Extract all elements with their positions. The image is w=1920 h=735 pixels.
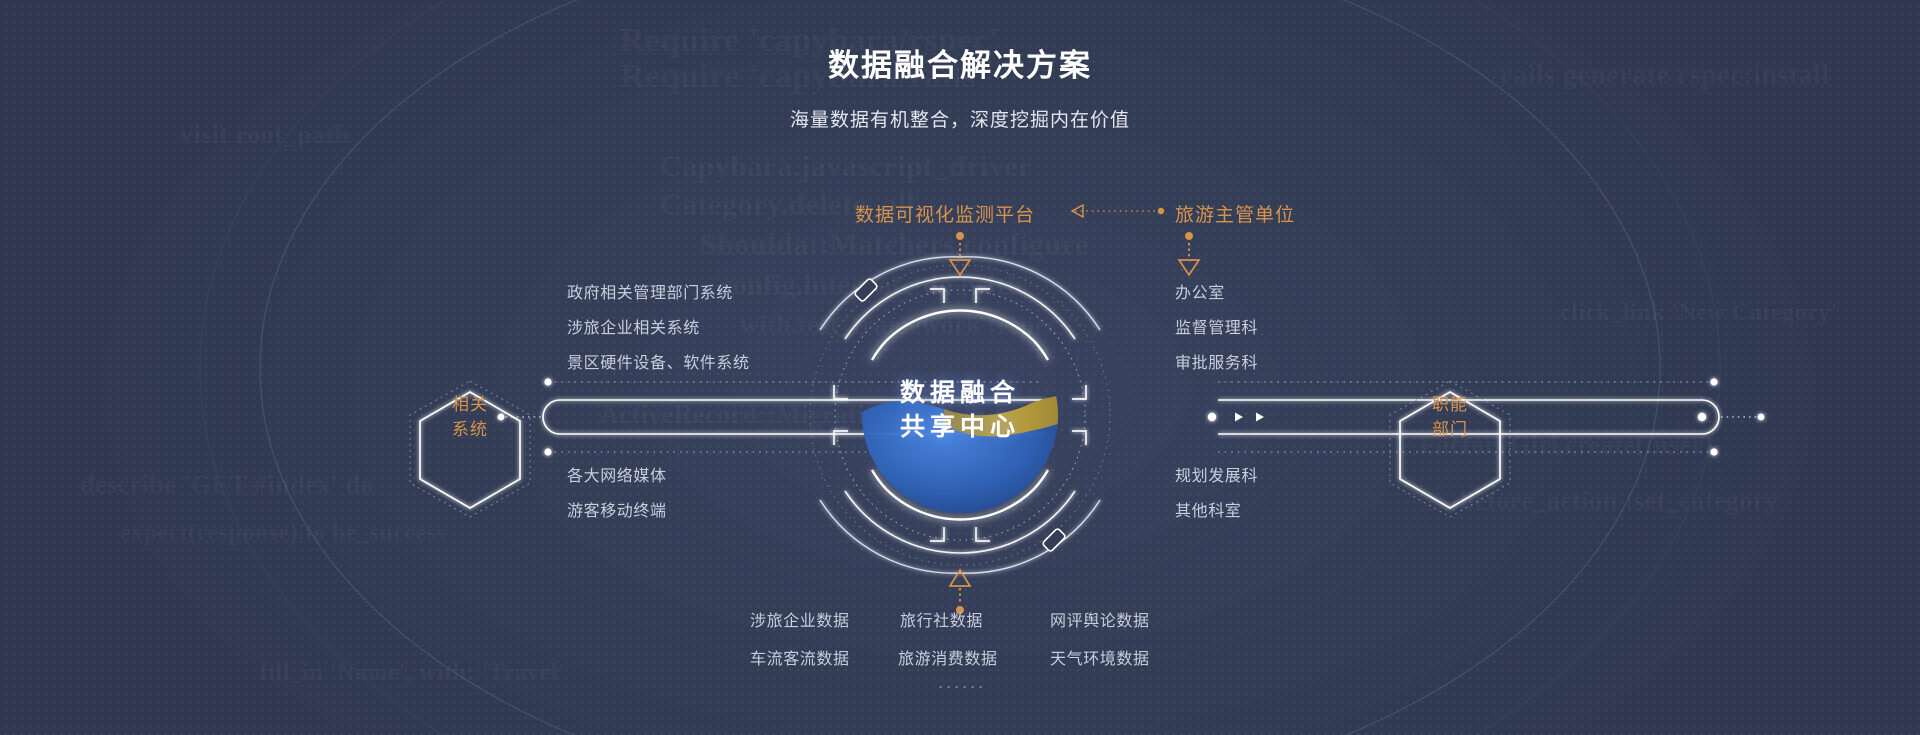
page-subtitle: 海量数据有机整合，深度挖掘内在价值 <box>0 105 1920 132</box>
left-input-0[interactable]: 政府相关管理部门系统 <box>567 279 733 303</box>
right-hexagon-label[interactable]: 职能 部门 <box>1410 392 1490 442</box>
bottom-source-r1c3[interactable]: 网评舆论数据 <box>1050 607 1150 631</box>
bottom-source-r2c3[interactable]: 天气环境数据 <box>1050 645 1150 669</box>
left-hexagon-label-line1: 相关 <box>430 392 510 417</box>
diagram-canvas: Require 'capybara/rspec'Require 'capybar… <box>0 0 1920 735</box>
page-title: 数据融合解决方案 <box>0 40 1920 85</box>
right-output-0[interactable]: 办公室 <box>1175 279 1225 303</box>
center-hub-line2: 共享中心 <box>860 410 1060 444</box>
right-output-4[interactable]: 其他科室 <box>1175 497 1241 521</box>
left-input-2[interactable]: 景区硬件设备、软件系统 <box>567 349 750 373</box>
left-hexagon-label-line2: 系统 <box>430 417 510 442</box>
top-label-connector <box>1072 205 1164 217</box>
right-output-3[interactable]: 规划发展科 <box>1175 462 1258 486</box>
label-tourism-authority[interactable]: 旅游主管单位 <box>1175 200 1295 227</box>
left-input-1[interactable]: 涉旅企业相关系统 <box>567 314 700 338</box>
right-hexagon-label-line1: 职能 <box>1410 392 1490 417</box>
flow-arrow-top-right <box>1179 232 1199 275</box>
left-hexagon-label[interactable]: 相关 系统 <box>430 392 510 442</box>
left-input-3[interactable]: 各大网络媒体 <box>567 462 667 486</box>
bottom-source-r2c1[interactable]: 车流客流数据 <box>750 645 850 669</box>
left-input-4[interactable]: 游客移动终端 <box>567 497 667 521</box>
label-visualization-platform[interactable]: 数据可视化监测平台 <box>855 200 1035 227</box>
bottom-source-more: ······ <box>938 678 986 695</box>
bottom-source-r2c2[interactable]: 旅游消费数据 <box>898 645 998 669</box>
right-hexagon-label-line2: 部门 <box>1410 417 1490 442</box>
right-output-2[interactable]: 审批服务科 <box>1175 349 1258 373</box>
bottom-source-r1c1[interactable]: 涉旅企业数据 <box>750 607 850 631</box>
bottom-source-r1c2[interactable]: 旅行社数据 <box>900 607 983 631</box>
center-hub-line1: 数据融合 <box>860 376 1060 410</box>
center-hub-label: 数据融合 共享中心 <box>860 376 1060 444</box>
flow-arrow-top-center <box>950 232 970 275</box>
right-output-1[interactable]: 监督管理科 <box>1175 314 1258 338</box>
